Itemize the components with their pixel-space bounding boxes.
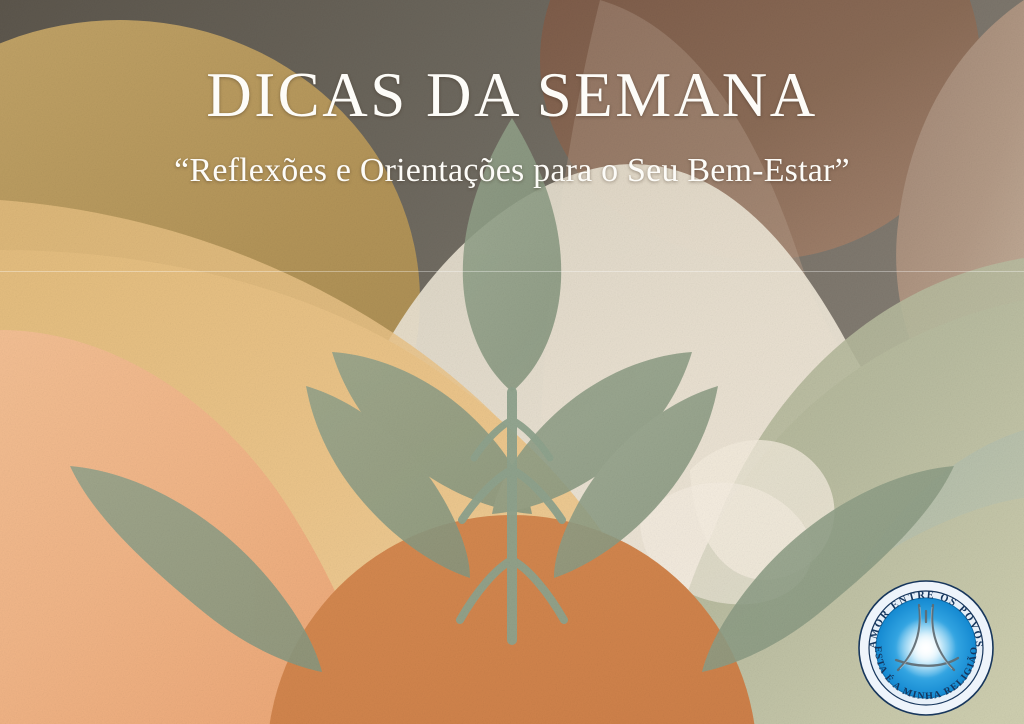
- page-title: DICAS DA SEMANA: [0, 0, 1024, 128]
- micro-watermark-text: [116, 322, 124, 346]
- page-subtitle: “Reflexões e Orientações para o Seu Bem-…: [0, 128, 1024, 190]
- heading-block: DICAS DA SEMANA “Reflexões e Orientações…: [0, 0, 1024, 190]
- organization-logo: AMOR ENTRE OS POVOS ESTA É A MINHA RELIG…: [856, 578, 996, 718]
- scan-fold-line: [0, 271, 1024, 272]
- poster-canvas: DICAS DA SEMANA “Reflexões e Orientações…: [0, 0, 1024, 724]
